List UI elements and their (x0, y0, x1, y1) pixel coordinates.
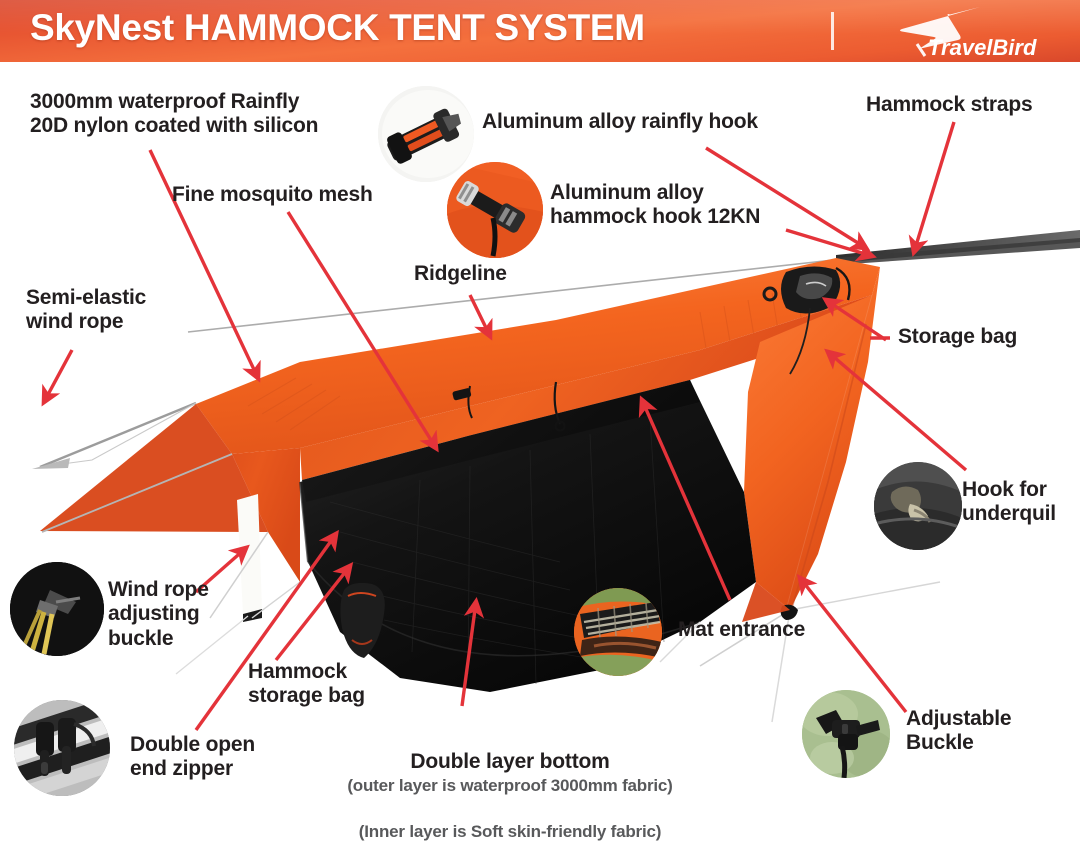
label-hammock-straps: Hammock straps (866, 93, 1032, 117)
brand-name-text: TravelBird (928, 35, 1037, 60)
double-layer-inner-line: (Inner layer is Soft skin-friendly fabri… (300, 821, 720, 843)
zipper-photo-art (14, 700, 110, 796)
label-hook-for-underquil: Hook for underquil (962, 478, 1056, 527)
inset-photo-mat-entrance (574, 588, 662, 676)
label-double-layer-bottom: Double layer bottom (outer layer is wate… (300, 726, 720, 868)
inset-photo-hammock-hook (447, 162, 543, 258)
label-hammock-storage-bag: Hammock storage bag (248, 660, 365, 709)
mat-entrance-photo-art (574, 588, 662, 676)
infographic-root: SkyNest HAMMOCK TENT SYSTEM TravelBird (0, 0, 1080, 823)
guy-line-right-b (790, 582, 940, 610)
underquil-hook-photo-art (874, 462, 962, 550)
inset-photo-zipper (14, 700, 110, 796)
label-double-open-end-zipper: Double open end zipper (130, 733, 255, 782)
header-divider (831, 12, 834, 50)
travelbird-logo: TravelBird (862, 4, 1072, 60)
label-semi-elastic-wind-rope: Semi-elastic wind rope (26, 286, 146, 335)
double-layer-title: Double layer bottom (410, 750, 609, 773)
label-ridgeline: Ridgeline (414, 262, 507, 286)
adjustable-buckle-photo-art (802, 690, 890, 778)
label-hammock-hook: Aluminum alloy hammock hook 12KN (550, 181, 760, 230)
label-mosquito-mesh: Fine mosquito mesh (172, 183, 373, 207)
reflective-tape-strip (237, 494, 262, 614)
inset-photo-underquil-hook (874, 462, 962, 550)
label-adjustable-buckle: Adjustable Buckle (906, 707, 1011, 756)
label-wind-rope-adjusting-buckle: Wind rope adjusting buckle (108, 578, 209, 651)
inset-photo-adjustable-buckle (802, 690, 890, 778)
inset-photo-rainfly-hook (378, 86, 474, 182)
label-mat-entrance: Mat entrance (678, 618, 805, 642)
rainfly-hook-photo-art (378, 86, 474, 182)
bird-swoosh-icon: TravelBird (862, 4, 1072, 60)
page-title: SkyNest HAMMOCK TENT SYSTEM (30, 7, 645, 49)
double-layer-outer-line: (outer layer is waterproof 3000mm fabric… (300, 775, 720, 797)
wind-buckle-photo-art (10, 562, 104, 656)
label-rainfly-hook: Aluminum alloy rainfly hook (482, 110, 758, 134)
hammock-hook-photo-art (447, 162, 543, 258)
header-banner: SkyNest HAMMOCK TENT SYSTEM TravelBird (0, 0, 1080, 62)
label-storage-bag: Storage bag (898, 325, 1017, 349)
label-rainfly-spec: 3000mm waterproof Rainfly 20D nylon coat… (30, 90, 318, 139)
inset-photo-wind-rope-buckle (10, 562, 104, 656)
